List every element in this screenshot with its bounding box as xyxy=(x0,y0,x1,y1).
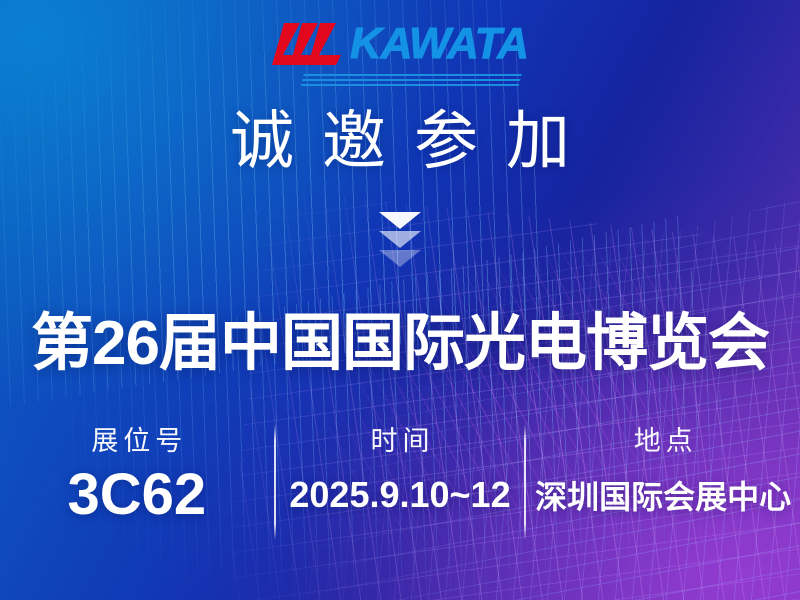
invitation-poster: KAWATA 诚邀参加 第26届中国国际光电博览会 展位号 3C62 时间 20… xyxy=(0,0,800,600)
chevron-down-triangle-icon xyxy=(379,250,421,267)
info-cell-booth: 展位号 3C62 xyxy=(0,424,274,540)
chevron-down-triangle-icon xyxy=(379,231,421,248)
info-label-venue: 地点 xyxy=(629,424,698,458)
info-cell-date: 时间 2025.9.10~12 xyxy=(276,424,525,540)
down-arrow-group xyxy=(0,212,800,267)
line-fan-bottom-left-decor xyxy=(0,216,755,600)
brand-logo: KAWATA xyxy=(0,22,800,74)
info-value-booth: 3C62 xyxy=(67,460,206,530)
info-label-date: 时间 xyxy=(366,424,435,458)
event-info-strip: 展位号 3C62 时间 2025.9.10~12 地点 深圳国际会展中心 xyxy=(0,424,800,540)
chevron-down-triangle-icon xyxy=(379,212,421,229)
brand-logo-inner: KAWATA xyxy=(272,22,528,66)
info-value-venue: 深圳国际会展中心 xyxy=(535,466,791,528)
kawata-triple-chevron-icon xyxy=(272,22,346,66)
info-cell-venue: 地点 深圳国际会展中心 xyxy=(526,424,800,540)
brand-wordmark: KAWATA xyxy=(350,22,528,66)
event-title: 第26届中国国际光电博览会 xyxy=(0,309,800,379)
info-value-date: 2025.9.10~12 xyxy=(289,464,510,526)
invitation-headline: 诚邀参加 xyxy=(0,104,800,178)
logo-speed-lines-decor xyxy=(300,74,521,88)
info-label-booth: 展位号 xyxy=(86,424,187,458)
